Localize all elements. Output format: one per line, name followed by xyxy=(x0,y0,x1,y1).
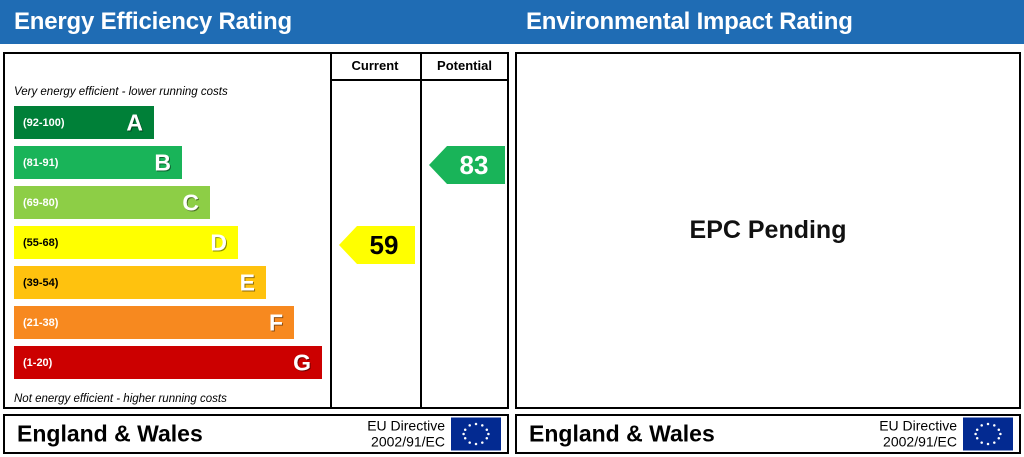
band-letter-f: F xyxy=(269,309,283,336)
band-letter-d: D xyxy=(210,229,227,256)
current-rating-value: 59 xyxy=(356,230,399,261)
page-title: Energy Efficiency Rating xyxy=(14,8,292,36)
footer-directive-left: EU Directive 2002/91/EC xyxy=(367,418,445,449)
band-row-f: (21-38) F xyxy=(14,306,294,339)
band-letter-g: G xyxy=(293,349,311,376)
band-range-a: (92-100) xyxy=(23,117,65,129)
band-letter-b: B xyxy=(154,149,171,176)
band-range-g: (1-20) xyxy=(23,357,52,369)
footer-directive-line2-left: 2002/91/EC xyxy=(367,434,445,450)
footer-directive-right: EU Directive 2002/91/EC xyxy=(879,418,957,449)
environmental-impact-header: Environmental Impact Rating xyxy=(512,0,1024,44)
band-range-f: (21-38) xyxy=(23,317,58,329)
eu-flag-icon-right xyxy=(963,418,1013,451)
footer-region-right: England & Wales xyxy=(529,421,715,448)
environmental-impact-panel: Environmental Impact Rating EPC Pending … xyxy=(512,0,1024,457)
footer-directive-line1-left: EU Directive xyxy=(367,418,445,434)
band-row-d: (55-68) D xyxy=(14,226,238,259)
energy-rating-chart: Current Potential Very energy efficient … xyxy=(3,52,509,409)
band-letter-c: C xyxy=(182,189,199,216)
potential-rating-arrow: 83 xyxy=(429,146,505,184)
energy-efficiency-header: Energy Efficiency Rating xyxy=(0,0,512,44)
left-footer: England & Wales EU Directive 2002/91/EC xyxy=(3,414,509,454)
column-header-underline xyxy=(330,79,507,81)
band-row-g: (1-20) G xyxy=(14,346,322,379)
band-range-b: (81-91) xyxy=(23,157,58,169)
footer-directive-line2-right: 2002/91/EC xyxy=(879,434,957,450)
epc-chart-page: Energy Efficiency Rating Current Potenti… xyxy=(0,0,1024,457)
environmental-rating-chart: EPC Pending xyxy=(515,52,1021,409)
potential-rating-value: 83 xyxy=(446,150,489,181)
band-row-a: (92-100) A xyxy=(14,106,154,139)
energy-efficiency-panel: Energy Efficiency Rating Current Potenti… xyxy=(0,0,512,457)
column-divider-potential xyxy=(420,54,422,407)
column-header-current: Current xyxy=(330,58,420,73)
band-row-c: (69-80) C xyxy=(14,186,210,219)
footer-directive-line1-right: EU Directive xyxy=(879,418,957,434)
band-range-c: (69-80) xyxy=(23,197,58,209)
band-letter-a: A xyxy=(126,109,143,136)
caption-top: Very energy efficient - lower running co… xyxy=(14,86,228,98)
current-rating-arrow: 59 xyxy=(339,226,415,264)
band-letter-e: E xyxy=(240,269,255,296)
caption-bottom: Not energy efficient - higher running co… xyxy=(14,393,227,405)
band-range-d: (55-68) xyxy=(23,237,58,249)
epc-pending-message: EPC Pending xyxy=(517,54,1019,407)
page-title-right: Environmental Impact Rating xyxy=(526,8,853,36)
band-row-b: (81-91) B xyxy=(14,146,182,179)
column-divider-current xyxy=(330,54,332,407)
column-header-potential: Potential xyxy=(422,58,507,73)
footer-region-left: England & Wales xyxy=(17,421,203,448)
band-range-e: (39-54) xyxy=(23,277,58,289)
right-footer: England & Wales EU Directive 2002/91/EC xyxy=(515,414,1021,454)
eu-flag-icon-left xyxy=(451,418,501,451)
band-row-e: (39-54) E xyxy=(14,266,266,299)
